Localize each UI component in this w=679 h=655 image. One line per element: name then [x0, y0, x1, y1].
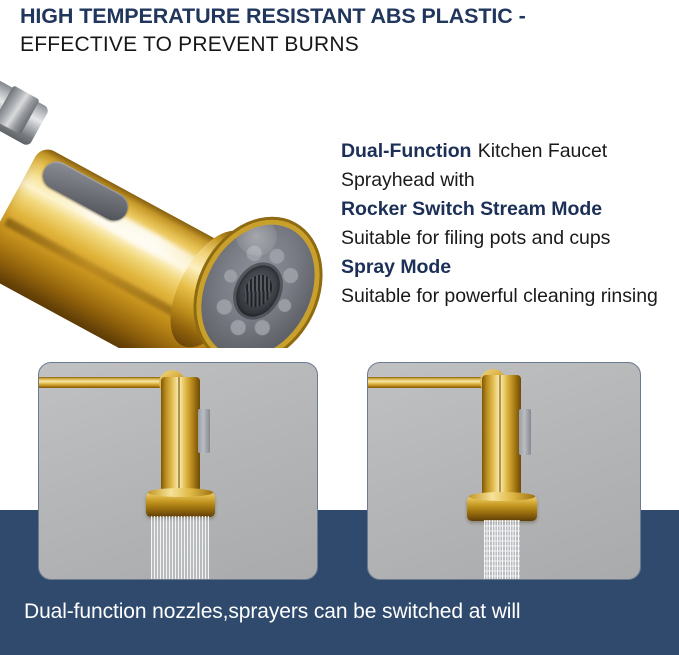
spray-collar — [467, 495, 537, 521]
band-caption-text: Dual-function nozzles,sprayers can be sw… — [24, 600, 664, 624]
faucet-neck-seam — [499, 375, 501, 497]
water-stream-narrow — [484, 520, 520, 580]
mode-two-title: Spray Mode — [341, 253, 673, 282]
page-subtitle: EFFECTIVE TO PREVENT BURNS — [20, 30, 670, 60]
copy-lead-accent: Dual-Function — [341, 140, 471, 162]
spray-collar-rim — [148, 488, 213, 497]
mode-two-description: Suitable for powerful cleaning rinsing — [341, 282, 673, 311]
headline-block: HIGH TEMPERATURE RESISTANT ABS PLASTIC -… — [20, 2, 670, 60]
page-title: HIGH TEMPERATURE RESISTANT ABS PLASTIC - — [20, 2, 670, 30]
faucet-neck-seam — [178, 377, 180, 493]
spray-collar — [146, 491, 215, 517]
mode-switch-tab — [519, 409, 531, 455]
sprayhead-product-photo — [0, 58, 324, 348]
feature-copy-block: Dual-Function Kitchen Faucet Sprayhead w… — [341, 137, 673, 311]
faucet-neck — [482, 375, 521, 497]
copy-lead-line: Dual-Function Kitchen Faucet Sprayhead w… — [341, 137, 673, 195]
mode-switch-tab — [198, 409, 210, 453]
faucet-neck — [161, 377, 200, 493]
sprayhead-scene — [0, 58, 324, 348]
demo-panel-stream — [38, 362, 318, 580]
nozzle-center-mesh — [239, 270, 277, 312]
spray-collar-rim — [469, 492, 535, 501]
product-infographic: HIGH TEMPERATURE RESISTANT ABS PLASTIC -… — [0, 0, 679, 655]
demo-panel-spray — [367, 362, 641, 580]
water-stream-wide — [151, 516, 209, 580]
mode-one-description: Suitable for filing pots and cups — [341, 224, 673, 253]
mode-one-title: Rocker Switch Stream Mode — [341, 195, 673, 224]
